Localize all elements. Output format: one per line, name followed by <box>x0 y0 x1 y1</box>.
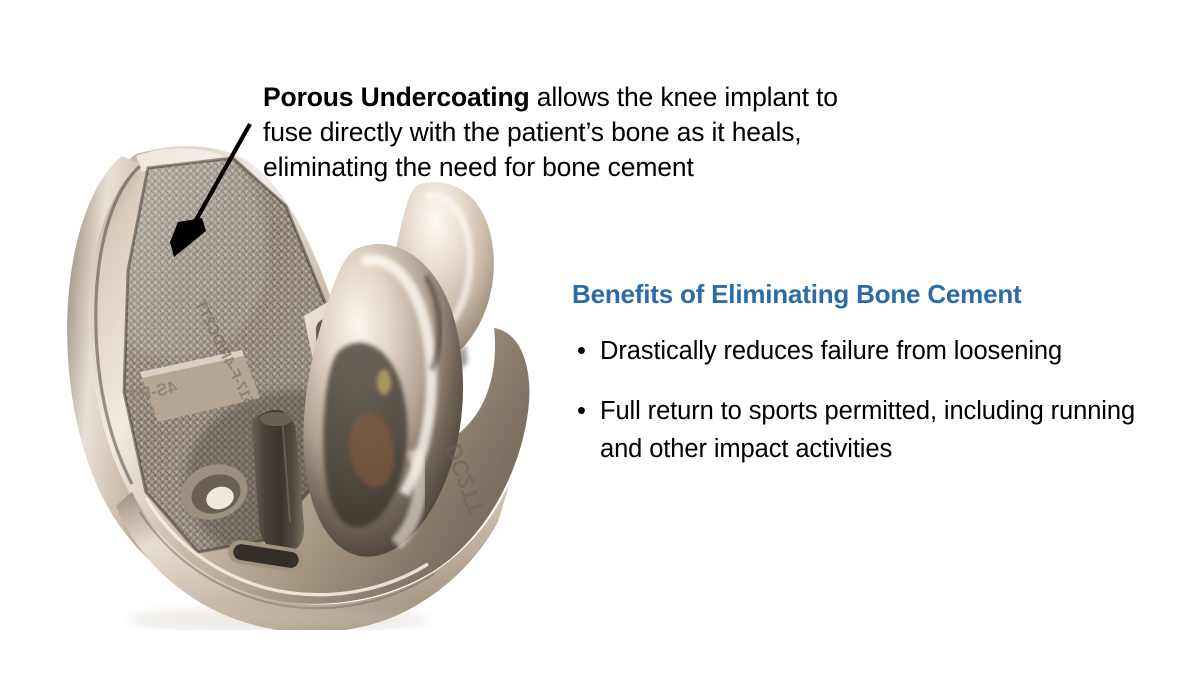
benefit-text-1: Drastically reduces failure from looseni… <box>600 337 1062 365</box>
slide-canvas: 4S-RT 3517-F-4R/DC2TT <box>0 0 1200 675</box>
implant-illustration: 4S-RT 3517-F-4R/DC2TT <box>28 120 548 630</box>
bullet-icon: • <box>577 332 586 370</box>
bullet-icon: • <box>577 392 586 430</box>
porous-undercoating-callout: Porous Undercoating allows the knee impl… <box>263 80 888 185</box>
benefit-list-item-2: • Full return to sports permitted, inclu… <box>572 392 1160 468</box>
callout-lead-label: Porous Undercoating <box>263 82 530 112</box>
benefits-heading: Benefits of Eliminating Bone Cement <box>572 278 1172 310</box>
benefit-text-2: Full return to sports permitted, includi… <box>600 397 1135 463</box>
benefit-list-item-1: • Drastically reduces failure from loose… <box>572 332 1160 370</box>
implant-body: 4S-RT 3517-F-4R/DC2TT <box>67 140 529 630</box>
knee-implant-image: 4S-RT 3517-F-4R/DC2TT <box>28 120 548 630</box>
benefits-section: Benefits of Eliminating Bone Cement • Dr… <box>572 278 1172 468</box>
